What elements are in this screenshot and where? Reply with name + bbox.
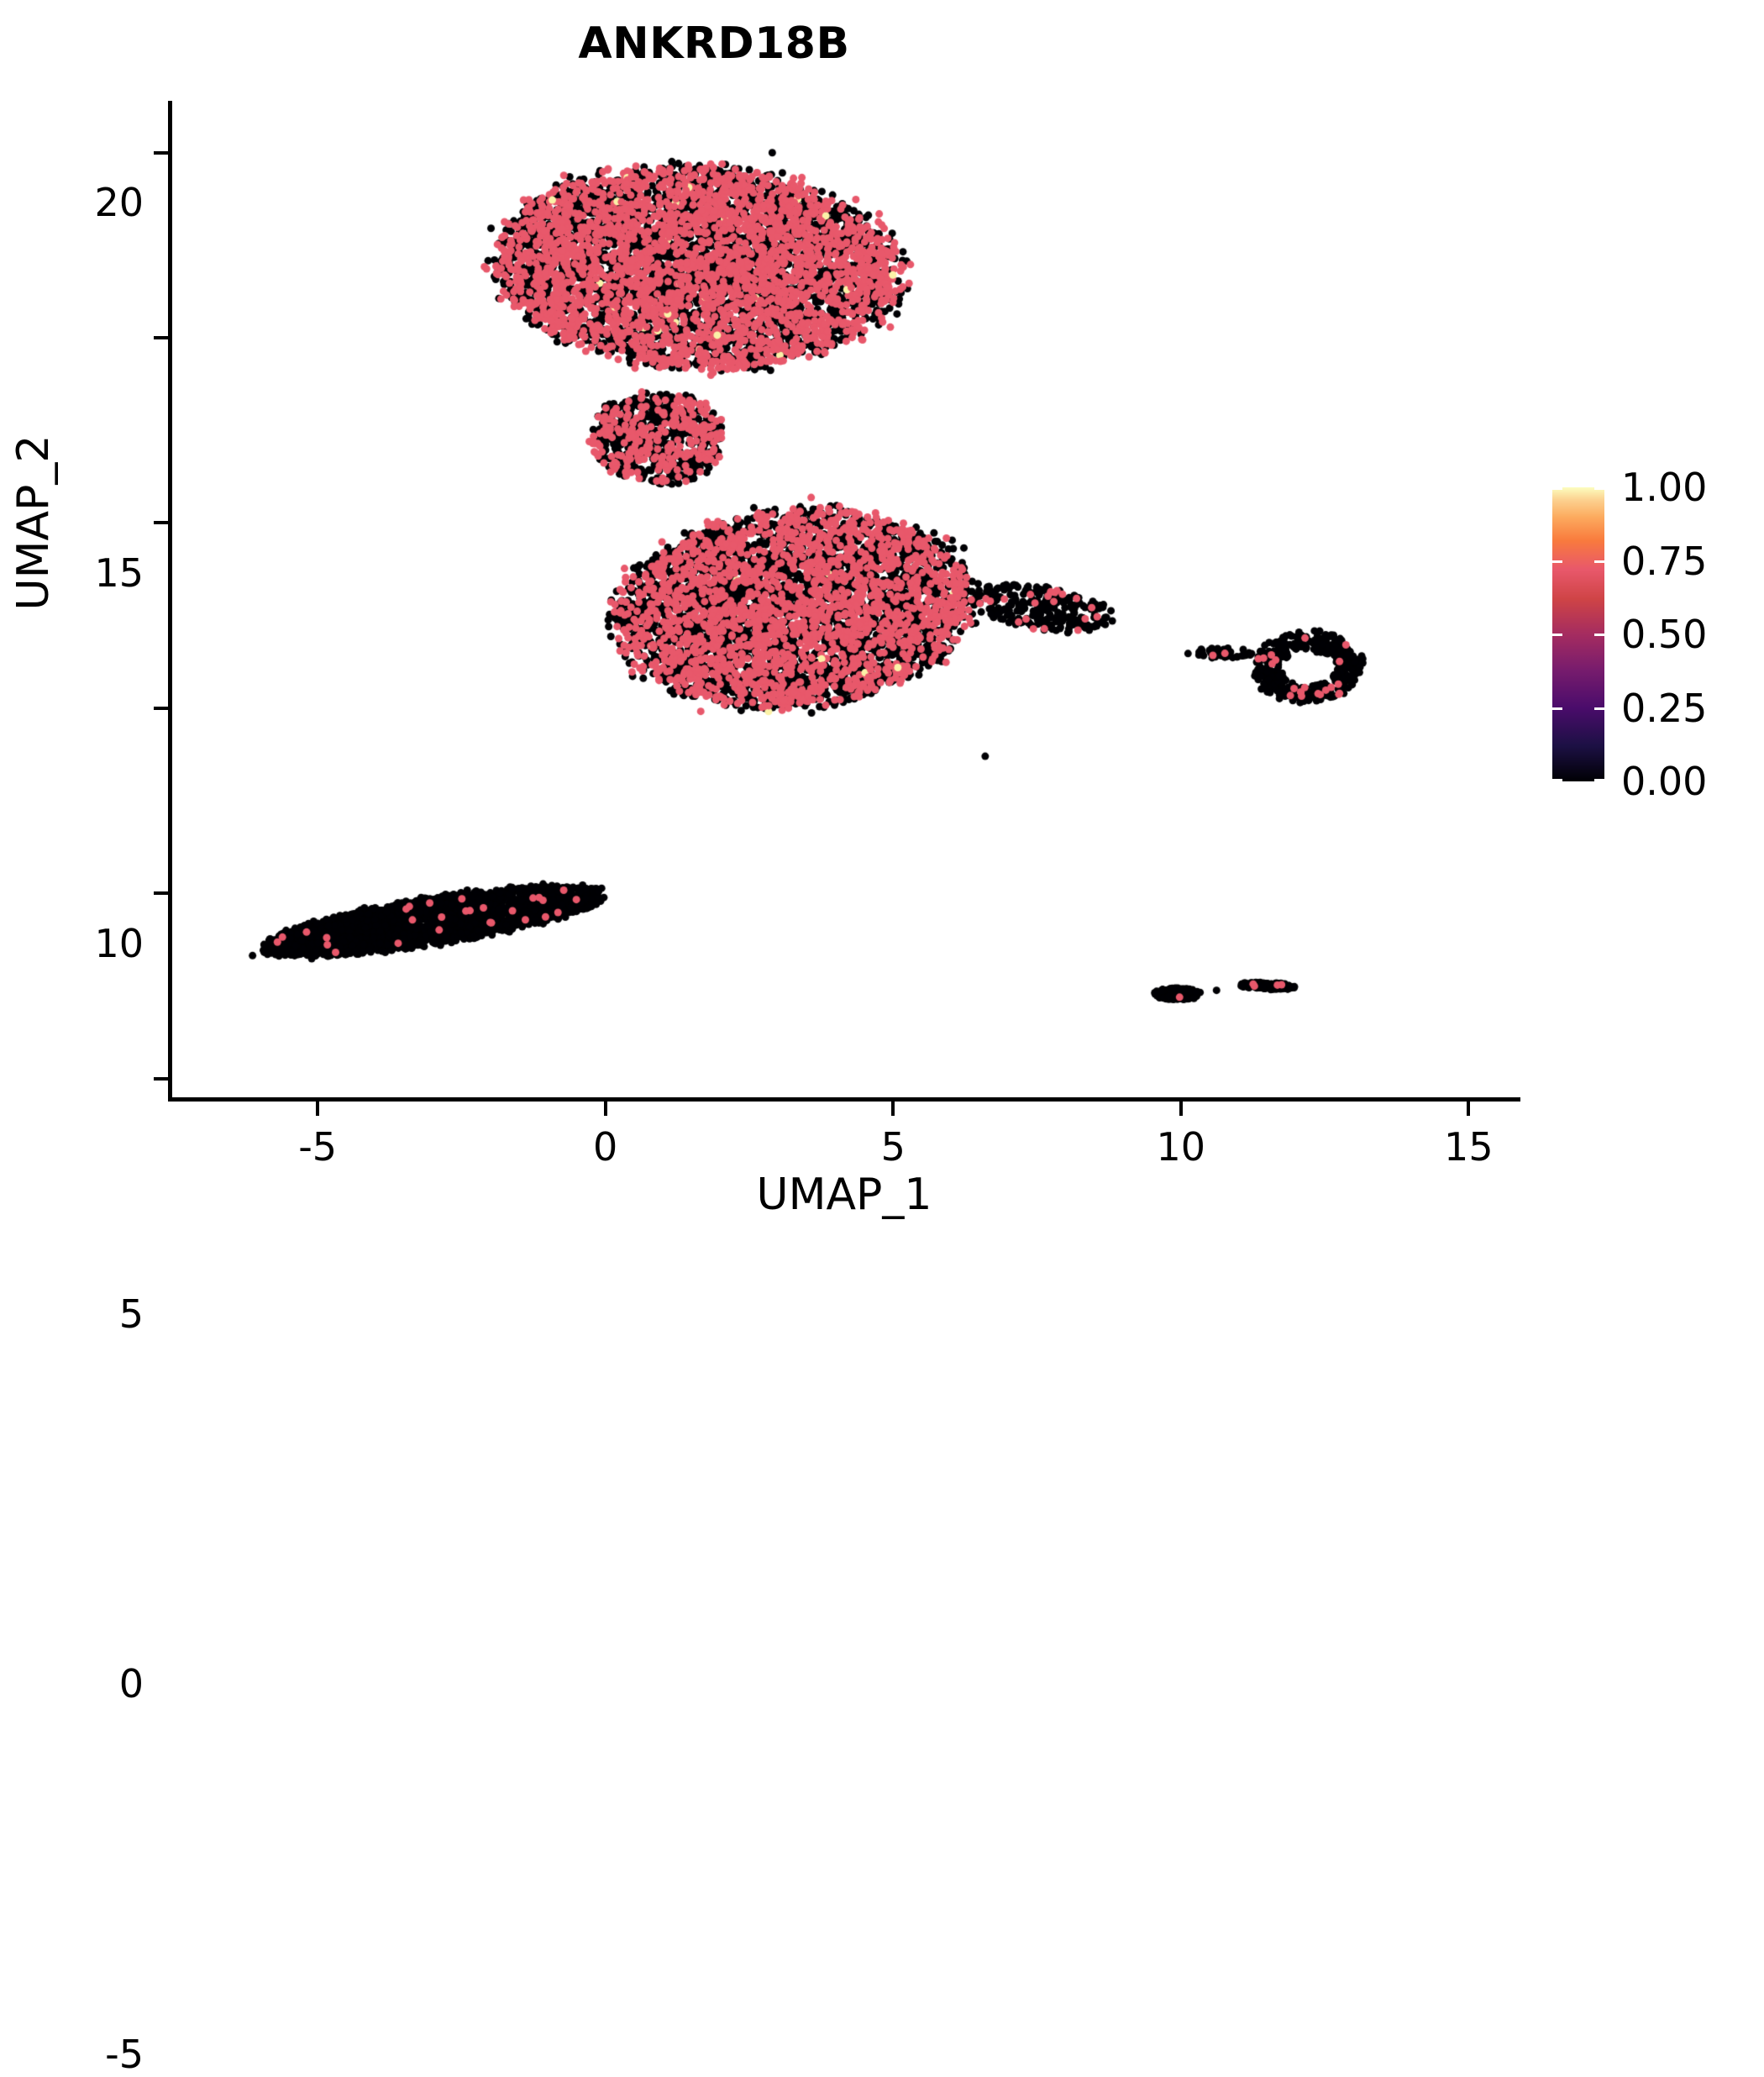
y-tick-mark: -5 (154, 1077, 168, 1081)
y-tick-label: 15 (94, 550, 144, 596)
colorbar-tick-mark (1594, 779, 1604, 781)
y-tick-mark: 5 (154, 707, 168, 710)
y-tick-mark: 10 (154, 521, 168, 524)
x-axis-label: UMAP_1 (168, 1170, 1520, 1220)
y-tick-mark: 0 (154, 891, 168, 895)
y-tick-label: 0 (119, 1661, 144, 1706)
colorbar-tick-mark (1552, 560, 1562, 563)
colorbar-tick-mark (1552, 707, 1562, 710)
page-title: ANKRD18B (0, 18, 1428, 69)
y-axis-spine (168, 101, 172, 1101)
x-tick-mark (891, 1102, 895, 1116)
x-tick-mark (1467, 1102, 1470, 1116)
umap-feature-plot-figure: ANKRD18B -505101520 -5051015 UMAP_1 UMAP… (0, 0, 1764, 1260)
y-tick-label: 10 (94, 921, 144, 966)
x-tick-mark (316, 1102, 319, 1116)
colorbar-tick-label: 0.75 (1621, 539, 1707, 584)
colorbar-tick-label: 0.00 (1621, 759, 1707, 804)
x-axis-spine (168, 1097, 1520, 1102)
colorbar-tick-label: 1.00 (1621, 465, 1707, 510)
colorbar-tick-mark (1594, 560, 1604, 563)
y-tick-label: 5 (119, 1291, 144, 1337)
x-tick-mark (1179, 1102, 1183, 1116)
x-tick-label: 10 (1157, 1124, 1206, 1170)
y-tick-mark: 15 (154, 336, 168, 339)
y-tick-label: 20 (94, 180, 144, 225)
colorbar-tick-mark (1552, 779, 1562, 781)
x-tick-label: -5 (298, 1124, 337, 1170)
x-tick-label: 0 (593, 1124, 617, 1170)
colorbar-tick-mark (1594, 707, 1604, 710)
x-tick-label: 5 (881, 1124, 906, 1170)
x-tick-label: 15 (1444, 1124, 1494, 1170)
y-tick-label: -5 (105, 2032, 144, 2077)
plot-axes: -505101520 -5051015 (168, 101, 1520, 1101)
x-tick-mark (604, 1102, 607, 1116)
colorbar-tick-mark (1594, 634, 1604, 636)
scatter-plot-canvas (168, 101, 1520, 1101)
colorbar-tick-label: 0.50 (1621, 612, 1707, 657)
y-tick-mark: 20 (154, 151, 168, 155)
colorbar: 1.000.750.500.250.00 (1552, 487, 1746, 781)
colorbar-tick-mark (1552, 634, 1562, 636)
colorbar-tick-mark (1594, 487, 1604, 490)
colorbar-tick-mark (1552, 487, 1562, 490)
y-axis-label: UMAP_2 (8, 229, 59, 817)
colorbar-tick-label: 0.25 (1621, 686, 1707, 731)
